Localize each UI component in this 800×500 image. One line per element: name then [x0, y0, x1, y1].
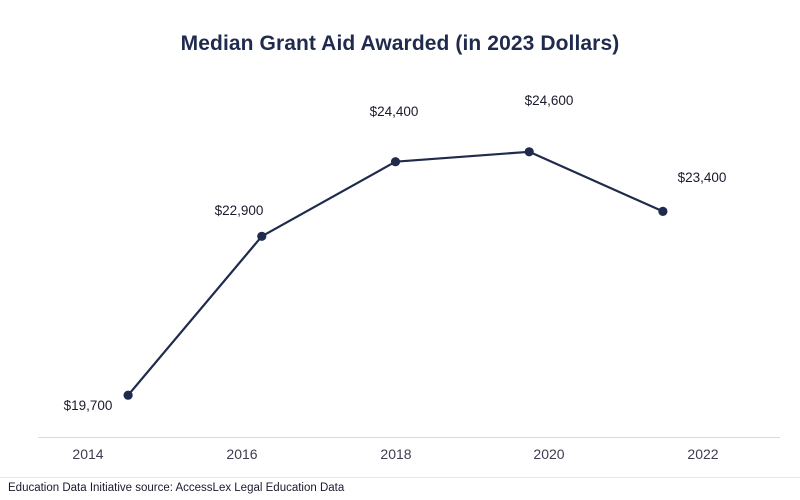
- plot-area: $19,700 $22,900 $24,400 $24,600 $23,400: [0, 0, 800, 460]
- x-tick-2018: 2018: [380, 446, 411, 462]
- x-tick-2022: 2022: [687, 446, 718, 462]
- x-tick-2014: 2014: [72, 446, 103, 462]
- data-point-2022: [658, 207, 667, 216]
- data-point-2018: [391, 157, 400, 166]
- chart-container: Median Grant Aid Awarded (in 2023 Dollar…: [0, 0, 800, 500]
- data-series-line: [128, 152, 663, 395]
- data-point-2020: [525, 147, 534, 156]
- point-label-2016: $22,900: [215, 203, 264, 218]
- footer-divider: [0, 477, 800, 478]
- point-label-2014: $19,700: [64, 398, 113, 413]
- data-point-2016: [257, 232, 266, 241]
- data-point-2014: [124, 391, 133, 400]
- point-label-2018: $24,400: [370, 104, 419, 119]
- source-note: Education Data Initiative source: Access…: [8, 482, 344, 494]
- line-chart-svg: [0, 0, 800, 460]
- data-point-markers: [124, 147, 668, 400]
- point-label-2020: $24,600: [525, 93, 574, 108]
- x-tick-2016: 2016: [226, 446, 257, 462]
- point-label-2022: $23,400: [678, 170, 727, 185]
- x-tick-2020: 2020: [533, 446, 564, 462]
- x-axis-line: [38, 437, 780, 438]
